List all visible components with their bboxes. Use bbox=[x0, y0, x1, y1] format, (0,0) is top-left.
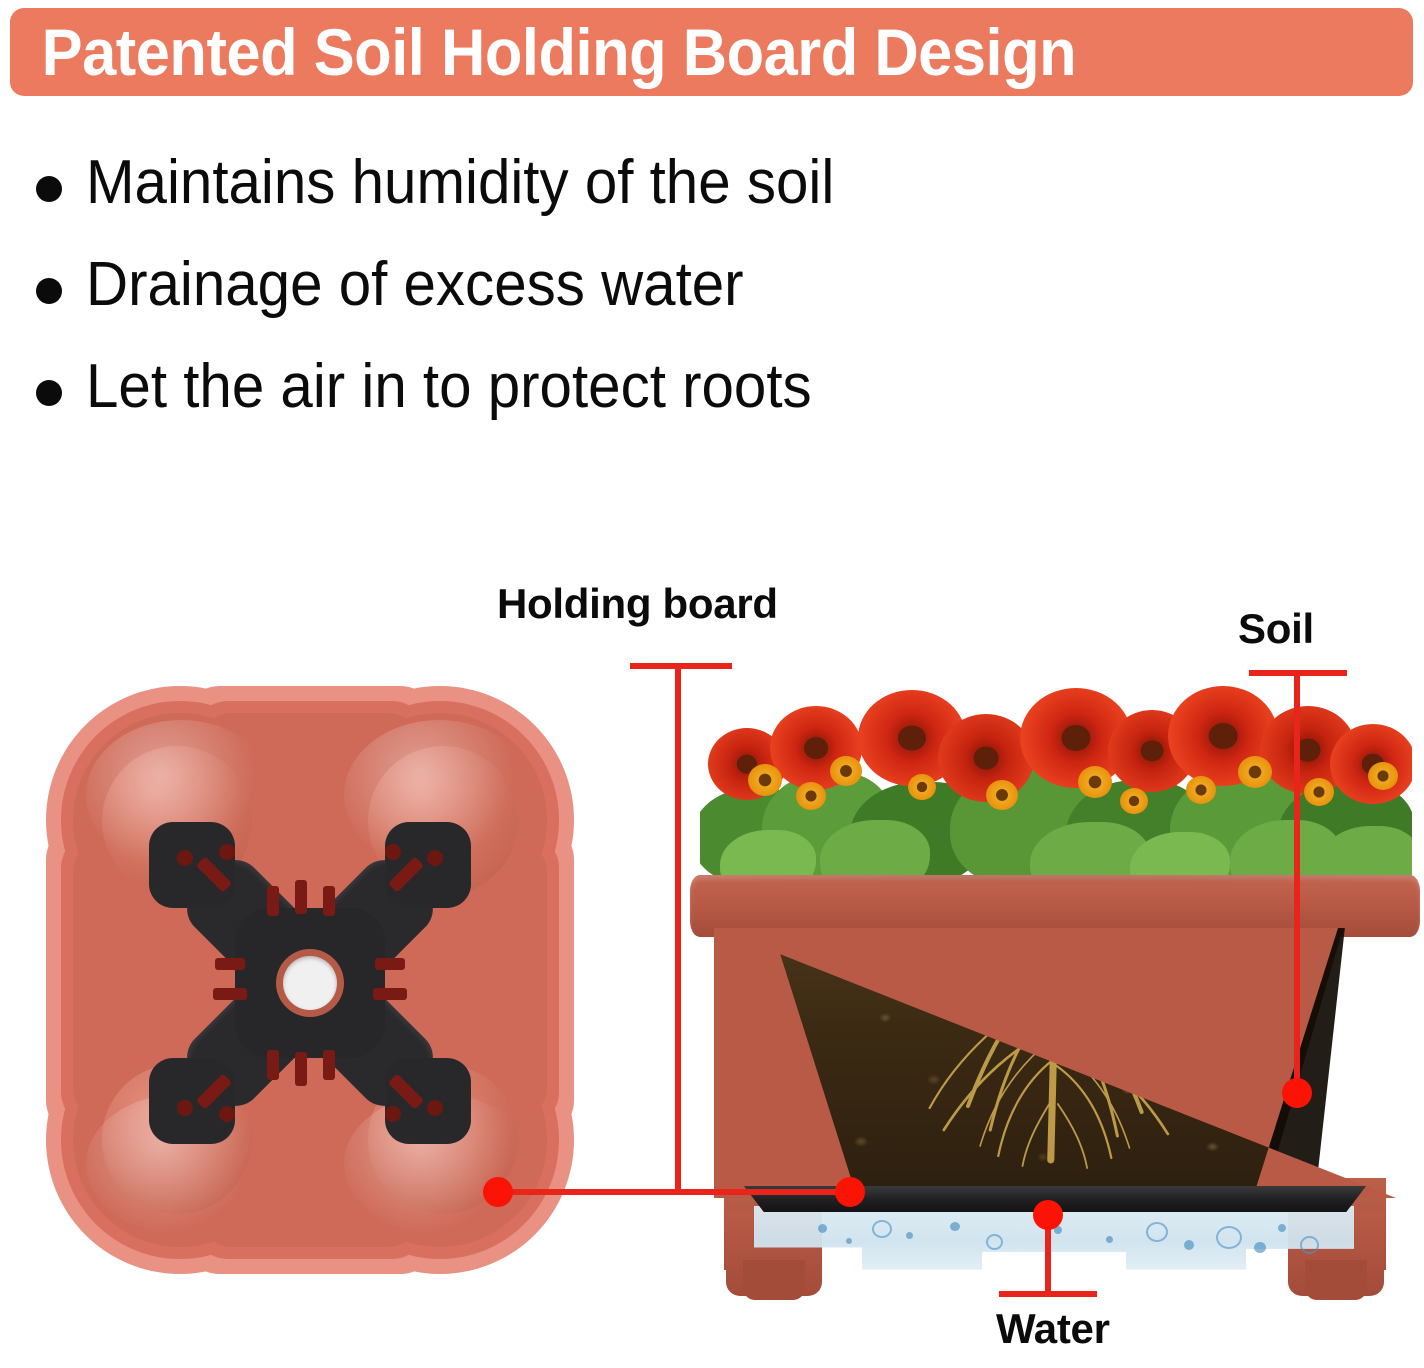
flowers-and-foliage bbox=[700, 670, 1412, 905]
product-diagram: Holding board Soil Water bbox=[0, 560, 1424, 1368]
connector-soil-stem bbox=[1294, 670, 1300, 1090]
bullet-dot-icon bbox=[36, 278, 62, 304]
page-title: Patented Soil Holding Board Design bbox=[10, 19, 1076, 85]
connector-holding-board-stem bbox=[675, 663, 681, 1192]
connector-dot-water bbox=[1033, 1200, 1063, 1230]
connector-dot-soil bbox=[1282, 1078, 1312, 1108]
list-item: Maintains humidity of the soil bbox=[36, 150, 1136, 252]
soil-holding-board-part bbox=[155, 828, 465, 1138]
bullet-dot-icon bbox=[36, 380, 62, 406]
feature-text: Drainage of excess water bbox=[86, 252, 744, 317]
list-item: Drainage of excess water bbox=[36, 252, 1136, 354]
list-item: Let the air in to protect roots bbox=[36, 354, 1136, 456]
header-banner: Patented Soil Holding Board Design bbox=[10, 8, 1413, 96]
bullet-dot-icon bbox=[36, 176, 62, 202]
callout-label-water: Water bbox=[996, 1305, 1110, 1353]
connector-holding-board-branch bbox=[498, 1189, 853, 1195]
connector-dot-holding-board-left bbox=[483, 1177, 513, 1207]
connector-dot-holding-board-right bbox=[835, 1177, 865, 1207]
callout-label-holding-board: Holding board bbox=[497, 580, 778, 628]
planter-cross-section-image bbox=[690, 670, 1420, 1290]
feature-text: Maintains humidity of the soil bbox=[86, 150, 834, 215]
drain-hole bbox=[283, 956, 337, 1010]
feature-list: Maintains humidity of the soil Drainage … bbox=[36, 150, 1136, 456]
feature-text: Let the air in to protect roots bbox=[86, 354, 812, 419]
connector-holding-board-tbar bbox=[630, 663, 732, 669]
connector-water-tbar bbox=[999, 1291, 1097, 1297]
callout-label-soil: Soil bbox=[1238, 605, 1314, 653]
